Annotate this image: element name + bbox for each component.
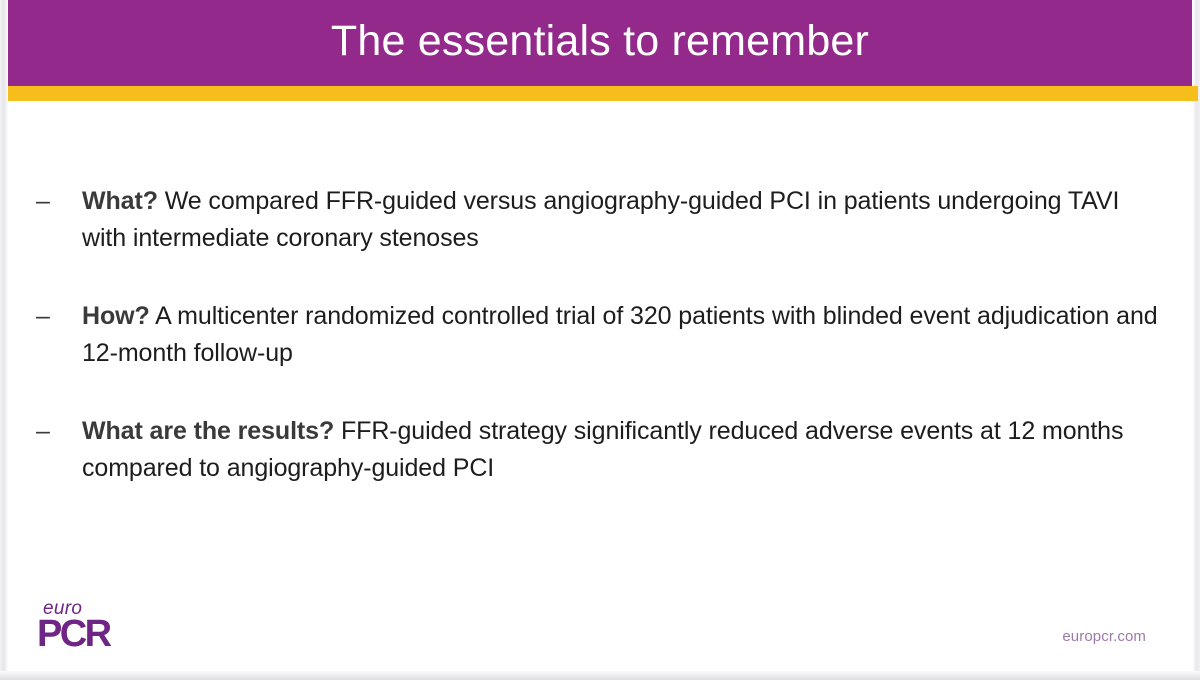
europcr-logo: euro PCR (37, 599, 157, 657)
bullet-list: – What? We compared FFR-guided versus an… (36, 183, 1161, 487)
bullet-lead-how: How? (82, 302, 150, 330)
slide-title: The essentials to remember (331, 20, 869, 67)
footer-website-url: europcr.com (1062, 628, 1146, 645)
bullet-body-how: A multicenter randomized controlled tria… (82, 302, 1158, 367)
bullet-text-how: How? A multicenter randomized controlled… (82, 298, 1161, 372)
slide-frame-right-edge (1193, 0, 1200, 680)
bullet-dash-icon: – (36, 183, 82, 220)
bullet-item-results: – What are the results? FFR-guided strat… (36, 413, 1161, 487)
bullet-item-how: – How? A multicenter randomized controll… (36, 298, 1161, 372)
slide-frame-bottom-edge (0, 671, 1200, 680)
bullet-text-what: What? We compared FFR-guided versus angi… (82, 183, 1161, 257)
bullet-lead-what: What? (82, 187, 158, 215)
slide-frame-left-edge (0, 0, 8, 680)
bullet-item-what: – What? We compared FFR-guided versus an… (36, 183, 1161, 257)
bullet-lead-results: What are the results? (82, 417, 334, 445)
bullet-dash-icon: – (36, 298, 82, 335)
slide-canvas: The essentials to remember – What? We co… (0, 0, 1200, 680)
header-accent-bar (8, 86, 1198, 101)
slide-body: – What? We compared FFR-guided versus an… (8, 101, 1192, 671)
slide-header-band: The essentials to remember (8, 0, 1192, 86)
logo-pcr-wordmark: PCR (37, 615, 109, 653)
bullet-text-results: What are the results? FFR-guided strateg… (82, 413, 1161, 487)
bullet-dash-icon: – (36, 413, 82, 450)
bullet-body-what: We compared FFR-guided versus angiograph… (82, 187, 1119, 252)
